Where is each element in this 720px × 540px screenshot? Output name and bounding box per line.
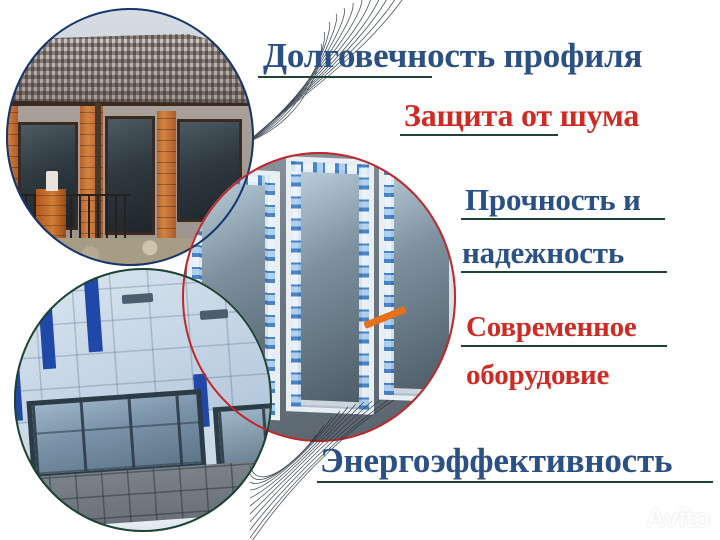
avito-dots-icon bbox=[615, 507, 641, 531]
photo-building-facade bbox=[14, 268, 272, 532]
veka-window-unit-2 bbox=[286, 156, 374, 415]
headline-rule-7 bbox=[317, 481, 713, 483]
avito-watermark: Avito bbox=[615, 503, 710, 534]
house-balcony-railing bbox=[16, 194, 130, 240]
veka-film-left-2 bbox=[291, 161, 301, 407]
headline-modern: Современное bbox=[466, 313, 637, 342]
building-facade-image bbox=[14, 268, 272, 532]
headline-reliability: надежность bbox=[462, 237, 624, 268]
veka-film-left-3 bbox=[384, 152, 394, 395]
headline-strength: Прочность и bbox=[465, 184, 641, 215]
headline-rule-3 bbox=[461, 218, 665, 220]
veka-glass-3 bbox=[391, 157, 449, 390]
headline-rule-5 bbox=[461, 345, 667, 347]
veka-window-unit-3 bbox=[379, 152, 456, 403]
house-log-post-right bbox=[157, 111, 176, 250]
headline-noise-protection: Защита от шума bbox=[404, 99, 639, 131]
headline-rule-2 bbox=[400, 134, 558, 136]
headline-rule-1 bbox=[258, 76, 432, 78]
house-roof-tiles bbox=[6, 34, 254, 111]
headline-equipment: оборудовие bbox=[466, 361, 609, 390]
headline-rule-4 bbox=[461, 271, 667, 273]
headline-durability: Долговечность профиля bbox=[263, 38, 642, 73]
veka-film-right-2 bbox=[359, 164, 369, 410]
veka-glass-2 bbox=[298, 168, 362, 402]
headline-energy-efficiency: Энергоэффективность bbox=[320, 443, 672, 478]
house-lamp bbox=[46, 171, 58, 192]
avito-watermark-text: Avito bbox=[646, 503, 710, 534]
poster-canvas: Долговечность профиля Защита от шума Про… bbox=[0, 0, 720, 540]
